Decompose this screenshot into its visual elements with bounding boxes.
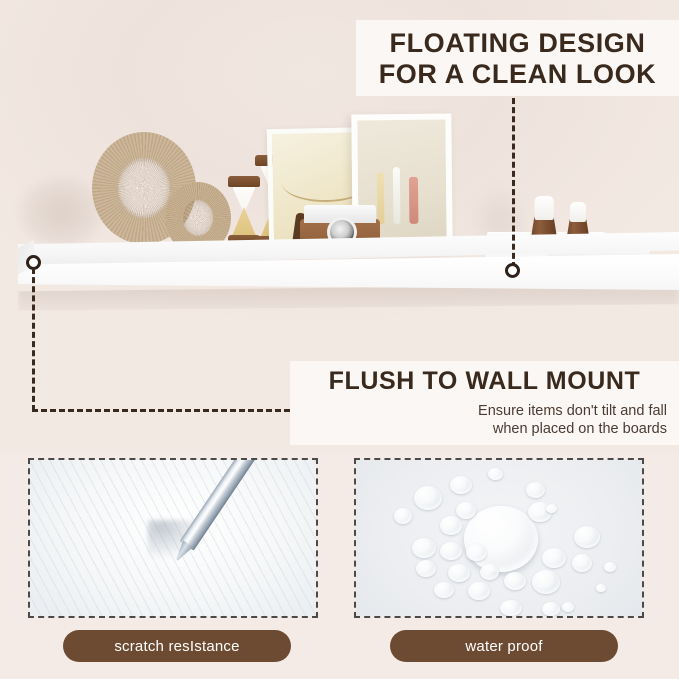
candle-wax <box>535 196 554 220</box>
water-droplet <box>450 476 472 494</box>
water-droplet <box>480 564 499 580</box>
shelf-underside-shadow <box>18 284 679 330</box>
connector-line-floating <box>512 98 515 268</box>
hourglass-sand <box>232 207 255 235</box>
water-droplet <box>604 562 616 572</box>
water-droplet <box>526 482 545 498</box>
water-droplet <box>504 572 526 590</box>
water-droplet <box>440 542 462 560</box>
water-droplet <box>440 516 462 535</box>
callout-flush-subtitle: Ensure items don't tilt and fall when pl… <box>290 396 679 438</box>
callout-flush-subtitle-line2: when placed on the boards <box>493 421 667 437</box>
frame-art-stroke <box>409 177 418 224</box>
feature-card-scratch-resistance <box>28 458 318 618</box>
water-droplet <box>468 582 490 600</box>
feature-label-water-proof: water proof <box>390 630 618 662</box>
water-droplet <box>488 468 503 480</box>
frame-art-stroke <box>393 167 401 224</box>
water-droplet <box>466 544 487 561</box>
callout-flush-subtitle-line1: Ensure items don't tilt and fall <box>478 403 667 419</box>
callout-floating-title: FLOATING DESIGN FOR A CLEAN LOOK <box>356 20 679 90</box>
callout-floating-design: FLOATING DESIGN FOR A CLEAN LOOK <box>356 20 679 96</box>
water-droplet <box>562 602 574 612</box>
water-droplet <box>414 486 442 510</box>
water-droplet <box>456 502 476 519</box>
water-droplet <box>596 584 606 592</box>
callout-floating-title-line1: FLOATING DESIGN <box>390 28 646 58</box>
water-droplet <box>532 570 560 594</box>
feature-card-water-proof <box>354 458 644 618</box>
water-droplet <box>572 554 592 572</box>
feature-label-scratch-resistance: scratch resIstance <box>63 630 291 662</box>
callout-floating-title-line2: FOR A CLEAN LOOK <box>379 59 657 89</box>
candle-wax <box>570 202 586 222</box>
water-droplet <box>464 506 538 572</box>
water-droplet <box>416 560 436 577</box>
connector-line-flush-vertical <box>32 268 35 411</box>
connector-node-floating <box>505 263 520 278</box>
water-droplet <box>500 600 522 616</box>
water-droplet <box>448 564 470 582</box>
water-droplet <box>542 602 560 616</box>
water-droplet <box>394 508 412 524</box>
water-droplet <box>574 526 600 548</box>
water-droplet <box>434 582 454 598</box>
connector-line-flush-horizontal <box>32 409 290 412</box>
water-droplet <box>546 504 557 513</box>
water-droplet <box>542 548 566 568</box>
water-droplet <box>412 538 436 558</box>
callout-flush-title: FLUSH TO WALL MOUNT <box>290 361 679 396</box>
floating-shelf <box>18 232 679 322</box>
infographic-page: FLOATING DESIGN FOR A CLEAN LOOK FLUSH T… <box>0 0 679 679</box>
callout-flush-mount: FLUSH TO WALL MOUNT Ensure items don't t… <box>290 361 679 445</box>
